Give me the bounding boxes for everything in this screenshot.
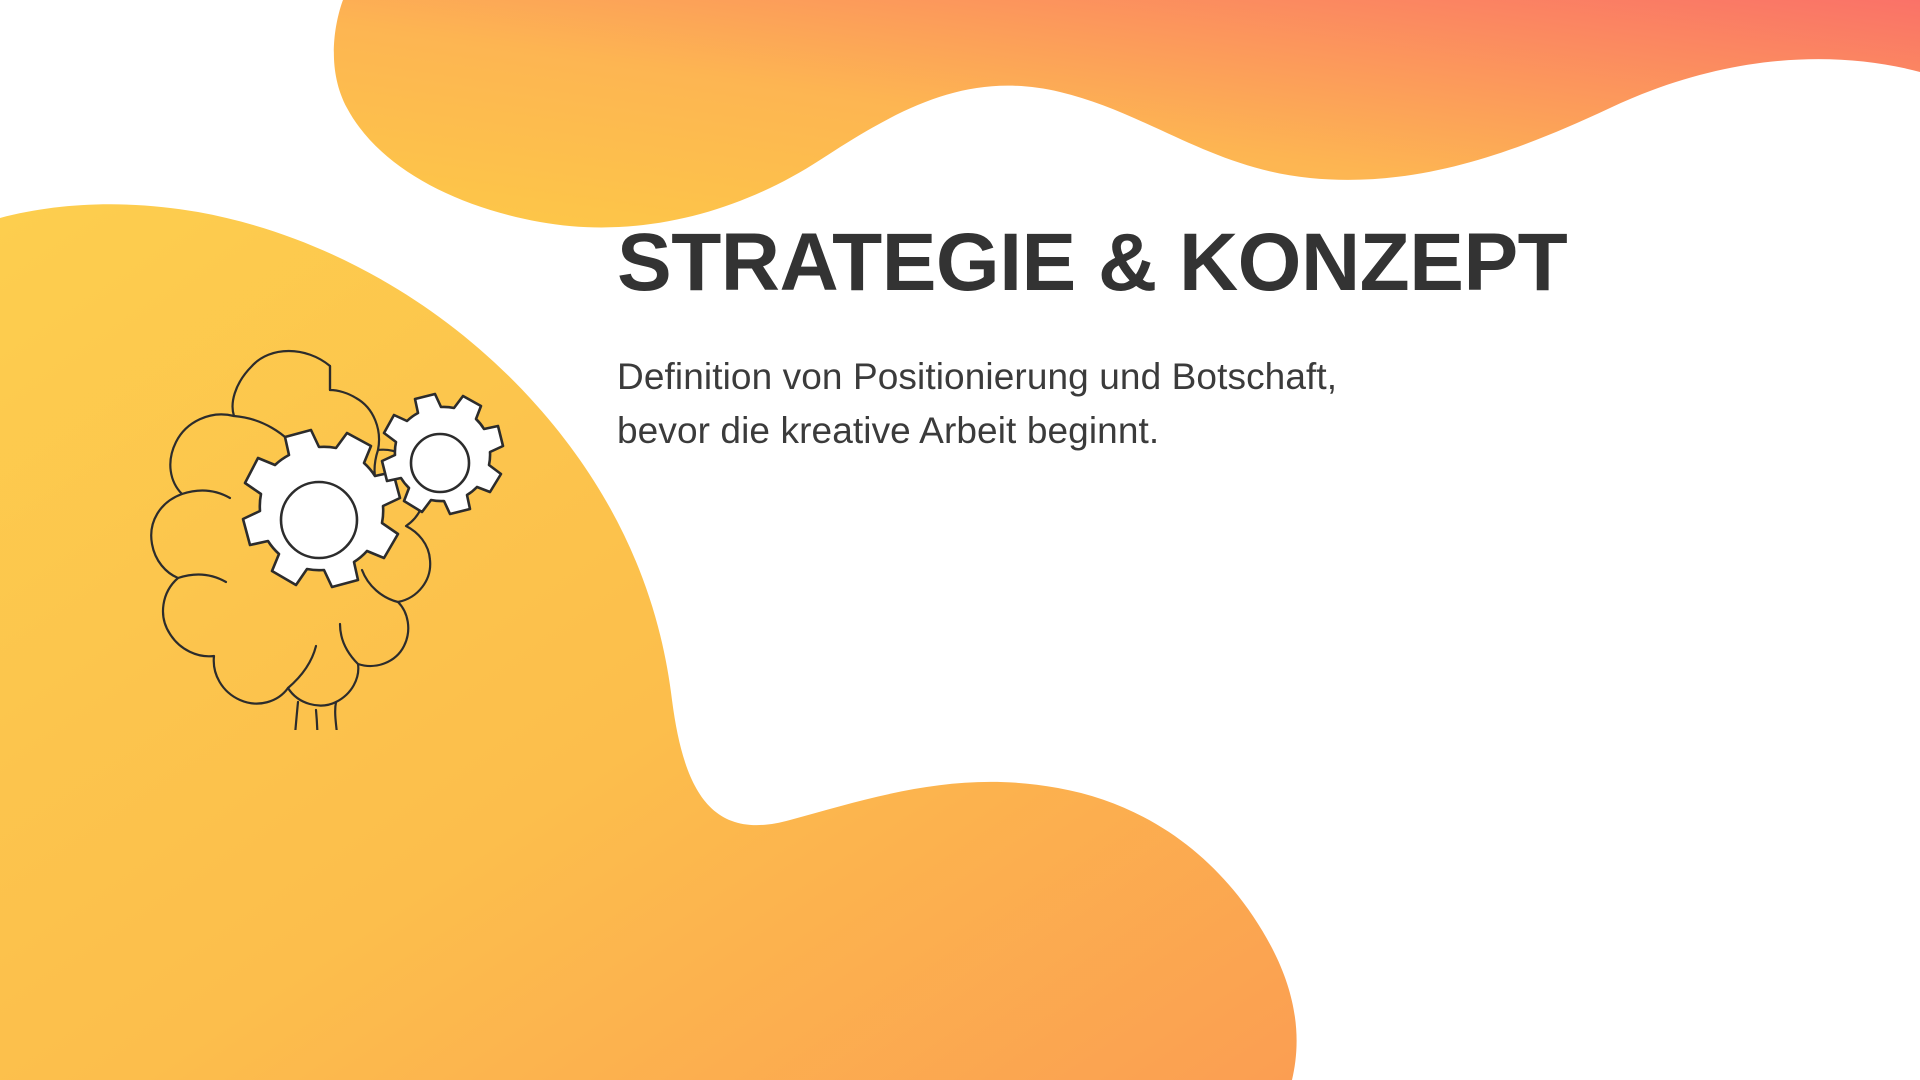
brain-with-gears-icon: [130, 330, 530, 730]
slide-text-block: STRATEGIE & KONZEPT Definition von Posit…: [617, 222, 1617, 458]
subtitle-line-1: Definition von Positionierung und Botsch…: [617, 350, 1617, 404]
brain-fold-lower-left: [178, 575, 226, 582]
brain-fold-left-mid: [182, 491, 230, 498]
page-title: STRATEGIE & KONZEPT: [617, 222, 1617, 304]
slide-subtitle: Definition von Positionierung und Botsch…: [617, 350, 1617, 458]
brain-fold-bottom-right: [340, 624, 358, 664]
brain-fold-right-mid: [362, 570, 398, 602]
brain-fold-bottom-center: [288, 646, 316, 688]
brain-stem-fold: [316, 710, 318, 730]
top-wave-blob-path: [334, 0, 1920, 227]
slide-canvas: STRATEGIE & KONZEPT Definition von Posit…: [0, 0, 1920, 1080]
subtitle-line-2: bevor die kreative Arbeit beginnt.: [617, 404, 1617, 458]
